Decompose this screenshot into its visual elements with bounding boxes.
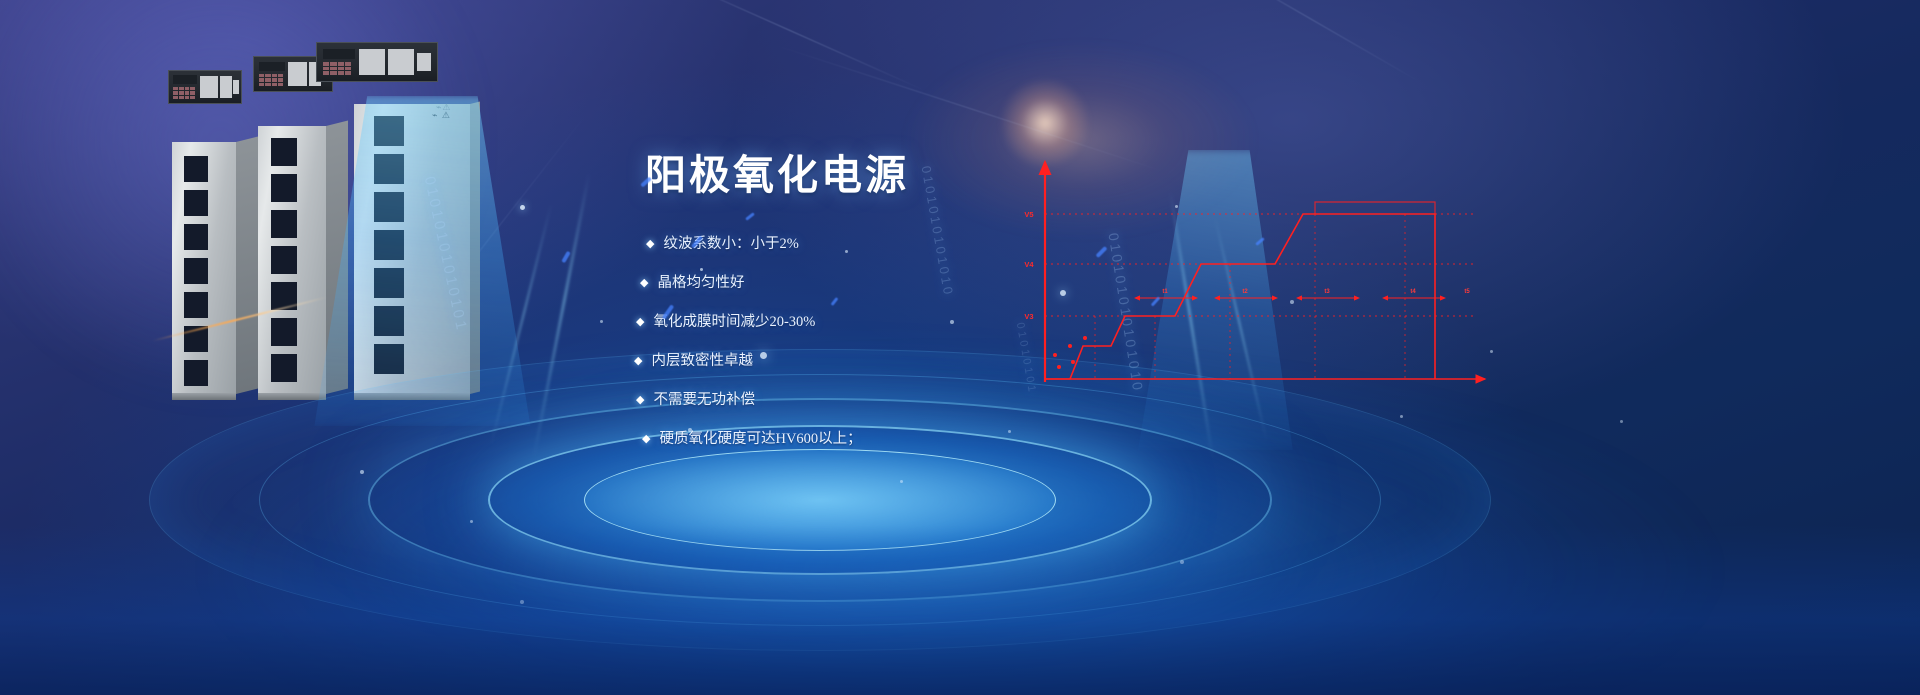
chart-y-tick-v3: V3 [1024, 312, 1033, 321]
cabinet-vent [184, 292, 208, 318]
diamond-bullet-icon: ◆ [636, 313, 644, 332]
control-breaker [417, 53, 431, 71]
chart-y-tick-v5: V5 [1024, 210, 1033, 219]
cabinet-left [172, 142, 236, 394]
control-meter [288, 62, 307, 86]
cabinet-plinth [354, 393, 470, 400]
list-item-label: 内层致密性卓越 [651, 352, 753, 371]
particle [1400, 415, 1403, 418]
control-keypad [259, 74, 283, 86]
chart-svg: V5 V4 V3 t1 t2 t3 t4 t5 [1015, 150, 1505, 395]
cabinet-vent [374, 192, 404, 222]
chart-point [1053, 353, 1057, 357]
light-streak-1 [653, 0, 927, 92]
list-item-label: 晶格均匀性好 [657, 274, 744, 293]
cabinet-vent [271, 174, 297, 202]
diamond-bullet-icon: ◆ [640, 274, 648, 293]
cabinet-vent [271, 282, 297, 310]
cabinet-top-logo: ⌁⚠ [436, 102, 452, 113]
cabinet-vent [271, 210, 297, 238]
cabinet-vent [271, 138, 297, 166]
voltage-step-chart: V5 V4 V3 t1 t2 t3 t4 t5 [1015, 150, 1505, 395]
cabinet-right: ⌁ ⚠ [354, 104, 470, 394]
list-item-label: 不需要无功补偿 [653, 391, 755, 410]
particle [470, 520, 473, 523]
equipment-cabinets: ⌁ ⚠ ⌁⚠ [168, 84, 480, 394]
cabinet-vent [184, 360, 208, 386]
cabinet-middle [258, 126, 326, 394]
cabinet-left-control-panel [168, 70, 242, 104]
page-title: 阳极氧化电源 [645, 141, 909, 201]
control-meter [200, 76, 218, 98]
cabinet-vent [374, 268, 404, 298]
cabinet-middle-side [326, 121, 348, 394]
list-item-label: 氧化成膜时间减少20-30% [653, 313, 815, 332]
control-breaker [233, 80, 239, 94]
particle [360, 470, 364, 474]
control-keypad [173, 87, 195, 99]
control-display [173, 75, 197, 84]
control-display [323, 49, 355, 59]
cabinet-vent [374, 116, 404, 146]
particle [520, 600, 524, 604]
particle [600, 320, 603, 323]
cabinet-plinth [258, 393, 326, 400]
chart-x-tick-t4: t4 [1410, 289, 1416, 295]
cabinet-right-control-panel [316, 42, 438, 82]
cabinet-right-side [470, 102, 480, 394]
light-shard [745, 212, 755, 221]
particle [900, 480, 903, 483]
particle [1620, 420, 1623, 423]
chart-step-series [1045, 214, 1435, 379]
particle [1180, 560, 1184, 564]
control-meter [359, 49, 385, 75]
list-item-label: 纹波系数小：小于2% [663, 235, 798, 254]
control-label-plate [388, 49, 414, 75]
chart-x-tick-t2: t2 [1242, 289, 1248, 295]
cabinet-vent [184, 190, 208, 216]
control-label-plate [220, 76, 232, 98]
control-display [259, 62, 285, 71]
chart-point [1083, 336, 1087, 340]
cabinet-left-side [236, 137, 258, 394]
diamond-bullet-icon: ◆ [646, 235, 654, 254]
chart-point [1071, 360, 1075, 364]
list-item: ◆ 硬质氧化硬度可达HV600以上； [642, 430, 1110, 449]
particle [520, 205, 525, 210]
chart-x-tick-t1: t1 [1162, 289, 1168, 295]
diamond-bullet-icon: ◆ [636, 391, 644, 410]
list-item-label: 硬质氧化硬度可达HV600以上； [659, 430, 861, 449]
chart-step-outline [1315, 202, 1435, 214]
floor-glow [0, 525, 1920, 695]
cabinet-vent [184, 326, 208, 352]
cabinet-vent [184, 224, 208, 250]
cabinet-vent [184, 258, 208, 284]
cabinet-vent [271, 318, 297, 346]
cabinet-vent [374, 306, 404, 336]
diamond-bullet-icon: ◆ [642, 430, 650, 449]
chart-point [1057, 365, 1061, 369]
chart-point [1068, 344, 1072, 348]
light-streak-3 [1197, 0, 1423, 84]
banner-stage: ⌁ ⚠ ⌁⚠ 01010101010101 0101010101010 0101… [0, 0, 1920, 695]
control-keypad [323, 62, 351, 75]
cabinet-vent [271, 354, 297, 382]
cabinet-vent [184, 156, 208, 182]
cabinet-vent [374, 230, 404, 260]
diamond-bullet-icon: ◆ [634, 352, 642, 371]
chart-x-tick-t3: t3 [1324, 289, 1330, 295]
chart-y-tick-v4: V4 [1024, 260, 1034, 269]
cabinet-vent [271, 246, 297, 274]
chart-x-tick-t5: t5 [1464, 289, 1470, 295]
light-ray-1 [532, 172, 590, 457]
cabinet-vent [374, 344, 404, 374]
cabinet-plinth [172, 393, 236, 400]
cabinet-vent [374, 154, 404, 184]
